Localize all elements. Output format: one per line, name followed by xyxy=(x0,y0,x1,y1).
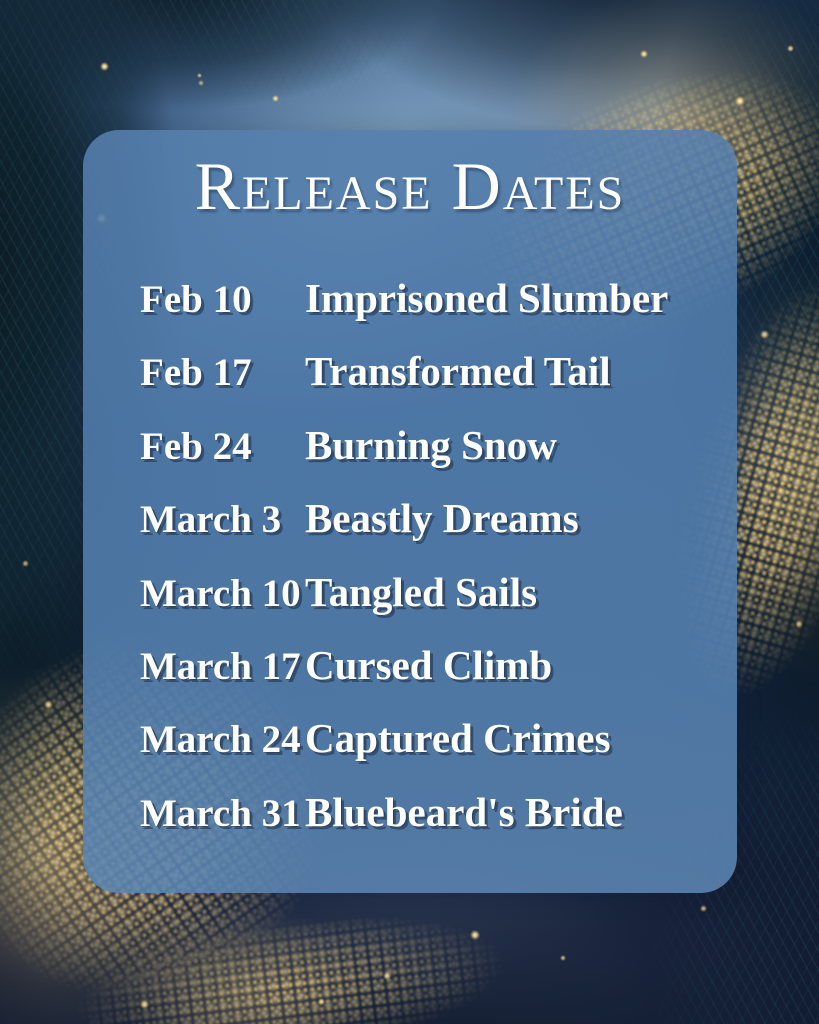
release-dates-panel: Release Dates Feb 10 Imprisoned Slumber … xyxy=(83,130,737,893)
firefly-icon xyxy=(383,972,391,980)
release-date: Feb 24 xyxy=(83,427,305,466)
firefly-icon xyxy=(197,73,202,78)
list-item: Feb 24 Burning Snow xyxy=(83,425,737,498)
release-title: Transformed Tail xyxy=(305,351,737,392)
list-item: March 3 Beastly Dreams xyxy=(83,498,737,571)
release-date: Feb 10 xyxy=(83,280,305,319)
list-item: March 10 Tangled Sails xyxy=(83,572,737,645)
list-item: March 31 Bluebeard's Bride xyxy=(83,792,737,865)
firefly-icon xyxy=(735,96,745,106)
firefly-icon xyxy=(272,95,279,102)
list-item: March 24 Captured Crimes xyxy=(83,718,737,791)
firefly-icon xyxy=(470,930,480,940)
release-date: March 17 xyxy=(83,647,305,686)
page-title: Release Dates xyxy=(83,130,737,220)
release-title: Captured Crimes xyxy=(305,718,737,759)
firefly-icon xyxy=(760,330,769,339)
firefly-icon xyxy=(795,620,803,628)
firefly-icon xyxy=(318,998,325,1005)
release-title: Tangled Sails xyxy=(305,572,737,613)
firefly-icon xyxy=(100,62,109,71)
release-title: Bluebeard's Bride xyxy=(305,792,737,833)
release-title: Beastly Dreams xyxy=(305,498,737,539)
firefly-icon xyxy=(560,955,566,961)
firefly-icon xyxy=(787,45,794,52)
firefly-icon xyxy=(700,905,707,912)
release-date: Feb 17 xyxy=(83,353,305,392)
list-item: Feb 10 Imprisoned Slumber xyxy=(83,278,737,351)
release-date: March 10 xyxy=(83,574,305,613)
firefly-icon xyxy=(22,560,29,567)
release-dates-poster: Release Dates Feb 10 Imprisoned Slumber … xyxy=(0,0,819,1024)
release-title: Imprisoned Slumber xyxy=(305,278,737,319)
release-title: Cursed Climb xyxy=(305,645,737,686)
list-item: March 17 Cursed Climb xyxy=(83,645,737,718)
release-title: Burning Snow xyxy=(305,425,737,466)
release-date: March 31 xyxy=(83,794,305,833)
firefly-icon xyxy=(198,80,204,86)
release-date: March 3 xyxy=(83,500,305,539)
list-item: Feb 17 Transformed Tail xyxy=(83,351,737,424)
release-date: March 24 xyxy=(83,720,305,759)
firefly-icon xyxy=(140,1000,149,1009)
firefly-icon xyxy=(44,700,53,709)
release-schedule-list: Feb 10 Imprisoned Slumber Feb 17 Transfo… xyxy=(83,278,737,865)
firefly-icon xyxy=(640,50,648,58)
